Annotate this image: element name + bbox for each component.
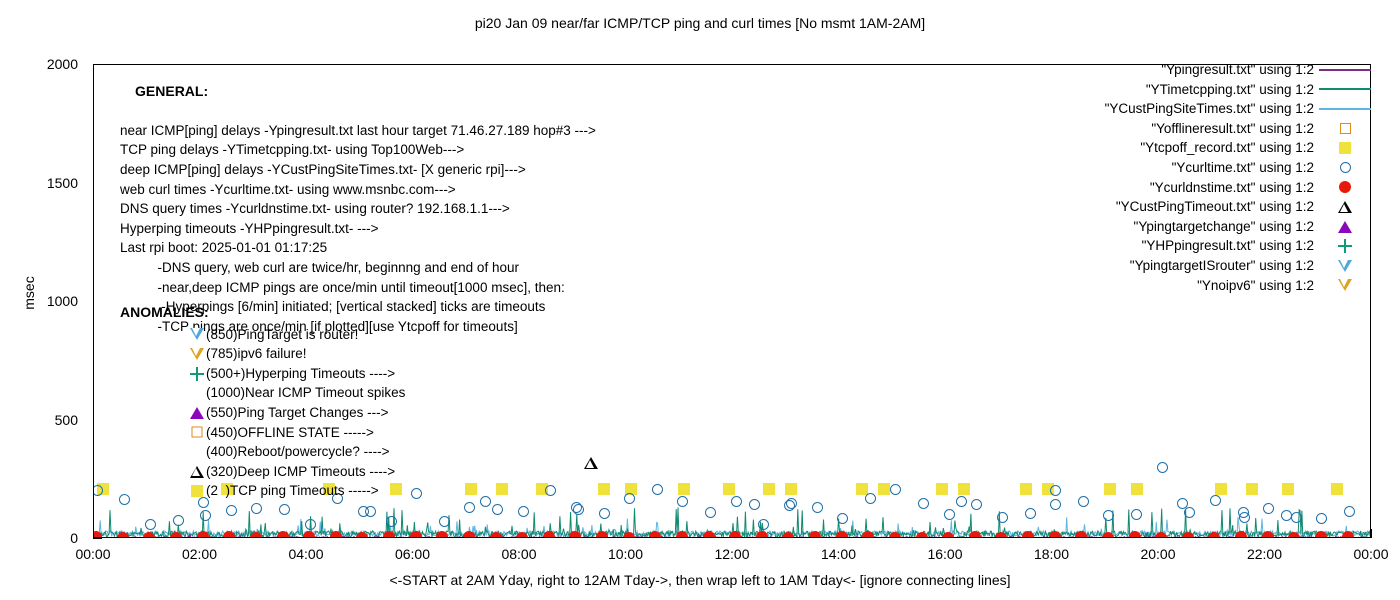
marker-curltime-circle xyxy=(749,499,760,510)
triangle-up-purple-icon xyxy=(188,403,206,423)
triangle-up-open-icon xyxy=(188,462,206,482)
marker-dnstime-dot xyxy=(490,532,502,538)
marker-dnstime-dot xyxy=(623,532,635,538)
marker-curltime-circle xyxy=(1291,512,1302,523)
marker-curltime-circle xyxy=(1078,496,1089,507)
anomaly-row: (400)Reboot/powercycle? ----> xyxy=(120,442,405,462)
y-tick-label: 1500 xyxy=(18,176,78,190)
legend-symbol xyxy=(1319,69,1371,71)
legend-symbol xyxy=(1338,201,1352,213)
marker-dnstime-dot xyxy=(729,531,741,538)
marker-dnstime-dot xyxy=(596,531,608,538)
marker-dnstime-dot xyxy=(1075,531,1087,538)
marker-curltime-circle xyxy=(173,515,184,526)
marker-curltime-circle xyxy=(305,519,316,530)
legend-label: "Ycurldnstime.txt" using 1:2 xyxy=(1150,178,1314,198)
anomaly-label: (450)OFFLINE STATE -----> xyxy=(206,423,374,443)
legend-symbol xyxy=(1338,239,1352,253)
triangle-down-orange-icon xyxy=(1314,276,1376,296)
anomaly-row: (850)PingTarget is router! xyxy=(120,325,405,345)
anomaly-row: (2 )TCP ping Timeouts -----> xyxy=(120,481,405,501)
triangle-up-filled-icon xyxy=(1314,217,1376,237)
anomaly-label: (850)PingTarget is router! xyxy=(206,325,358,345)
anomaly-row: (1000)Near ICMP Timeout spikes xyxy=(120,383,405,403)
legend-symbol xyxy=(1339,181,1351,193)
anomaly-label: (550)Ping Target Changes ---> xyxy=(206,403,388,423)
legend-row: "YTimetcpping.txt" using 1:2 xyxy=(1001,80,1376,100)
marker-curltime-circle xyxy=(1281,510,1292,521)
x-tick-label: 06:00 xyxy=(378,547,448,561)
x-tick-label: 10:00 xyxy=(591,547,661,561)
y-axis-label: msec xyxy=(21,248,37,338)
marker-curltime-circle xyxy=(492,504,503,515)
legend-symbol xyxy=(1339,142,1351,154)
general-note-line: TCP ping delays -YTimetcpping.txt- using… xyxy=(120,140,596,160)
anomaly-label: (2 )TCP ping Timeouts -----> xyxy=(206,481,379,501)
marker-curltime-circle xyxy=(1210,495,1221,506)
marker-tcpoff-square xyxy=(496,483,508,495)
general-note-line: near ICMP[ping] delays -Ypingresult.txt … xyxy=(120,121,596,141)
anomaly-no-icon xyxy=(188,442,206,462)
legend-label: "Ypingtargetchange" using 1:2 xyxy=(1134,217,1314,237)
marker-tcpoff-square xyxy=(936,483,948,495)
marker-dnstime-dot xyxy=(117,532,129,538)
x-tick-label: 02:00 xyxy=(165,547,235,561)
marker-curltime-circle xyxy=(865,493,876,504)
x-tick-label: 20:00 xyxy=(1123,547,1193,561)
marker-tcpoff-square xyxy=(1331,483,1343,495)
marker-curltime-circle xyxy=(1239,512,1250,523)
marker-dnstime-dot xyxy=(463,531,475,538)
marker-dnstime-dot xyxy=(1129,531,1141,538)
marker-tcpoff-square xyxy=(1131,483,1143,495)
legend-label: "Ynoipv6" using 1:2 xyxy=(1197,276,1314,296)
x-tick-mark xyxy=(1371,529,1372,538)
x-tick-label: 16:00 xyxy=(910,547,980,561)
legend-line-swatch xyxy=(1314,99,1376,119)
marker-curltime-circle xyxy=(226,505,237,516)
general-note-line: web curl times -Ycurltime.txt- using www… xyxy=(120,180,596,200)
marker-dnstime-dot xyxy=(1262,531,1274,538)
marker-curltime-circle xyxy=(731,496,742,507)
legend-symbol xyxy=(1319,108,1371,110)
marker-dnstime-dot xyxy=(1049,531,1061,538)
marker-dnstime-dot xyxy=(836,531,848,538)
marker-tcpoff-square xyxy=(958,483,970,495)
marker-tcpoff-square xyxy=(465,483,477,495)
marker-tcpoff-square xyxy=(1215,483,1227,495)
legend-line-swatch xyxy=(1314,80,1376,100)
anomaly-label: (320)Deep ICMP Timeouts ----> xyxy=(206,462,395,482)
square-open-icon xyxy=(1314,119,1376,139)
marker-dnstime-dot xyxy=(543,531,555,538)
legend-label: "Ytcpoff_record.txt" using 1:2 xyxy=(1140,138,1314,158)
circle-filled-icon xyxy=(1314,178,1376,198)
general-header: GENERAL: xyxy=(135,83,208,99)
marker-tcpoff-square xyxy=(1104,483,1116,495)
marker-dnstime-dot xyxy=(1182,532,1194,538)
chart-title: pi20 Jan 09 near/far ICMP/TCP ping and c… xyxy=(0,15,1400,31)
marker-curltime-circle xyxy=(705,507,716,518)
general-note-line: Hyperping timeouts -YHPpingresult.txt- -… xyxy=(120,219,596,239)
marker-tcpoff-square xyxy=(763,483,775,495)
legend: "Ypingresult.txt" using 1:2"YTimetcpping… xyxy=(1001,60,1376,295)
legend-symbol xyxy=(1338,279,1352,291)
legend-row: "YHPpingresult.txt" using 1:2 xyxy=(1001,236,1376,256)
anomaly-label: (1000)Near ICMP Timeout spikes xyxy=(206,383,405,403)
triangle-down-cyan-icon xyxy=(1314,256,1376,276)
marker-dnstime-dot xyxy=(1315,531,1327,538)
marker-tcpoff-square xyxy=(598,483,610,495)
triangle-up-open-icon xyxy=(1314,197,1376,217)
general-note-line: -near,deep ICMP pings are once/min until… xyxy=(120,278,596,298)
legend-label: "YCustPingSiteTimes.txt" using 1:2 xyxy=(1105,99,1314,119)
anomaly-row: (500+)Hyperping Timeouts ----> xyxy=(120,364,405,384)
marker-dnstime-dot xyxy=(1235,531,1247,538)
marker-dnstime-dot xyxy=(569,531,581,538)
x-tick-label: 14:00 xyxy=(804,547,874,561)
legend-row: "YCustPingTimeout.txt" using 1:2 xyxy=(1001,197,1376,217)
marker-curltime-circle xyxy=(386,516,397,527)
legend-label: "YpingtargetISrouter" using 1:2 xyxy=(1130,256,1314,276)
marker-dnstime-dot xyxy=(969,531,981,538)
marker-curltime-circle xyxy=(145,519,156,530)
anomaly-row: (785)ipv6 failure! xyxy=(120,344,405,364)
marker-dnstime-dot xyxy=(197,531,209,538)
marker-tcpoff-square xyxy=(878,483,890,495)
x-axis-caption: <-START at 2AM Yday, right to 12AM Tday-… xyxy=(0,572,1400,588)
legend-label: "YHPpingresult.txt" using 1:2 xyxy=(1142,236,1314,256)
x-tick-label: 08:00 xyxy=(484,547,554,561)
legend-row: "YpingtargetISrouter" using 1:2 xyxy=(1001,256,1376,276)
anomalies-notes: ANOMALIES: (850)PingTarget is router!(78… xyxy=(120,303,405,501)
y-tick-mark xyxy=(93,538,102,539)
anomaly-label: (785)ipv6 failure! xyxy=(206,344,307,364)
legend-label: "Ycurltime.txt" using 1:2 xyxy=(1172,158,1314,178)
marker-curltime-circle xyxy=(652,484,663,495)
marker-curltime-circle xyxy=(1025,508,1036,519)
anomaly-row: (550)Ping Target Changes ---> xyxy=(120,403,405,423)
marker-dnstime-dot xyxy=(676,531,688,538)
marker-curltime-circle xyxy=(1050,499,1061,510)
legend-row: "Ypingresult.txt" using 1:2 xyxy=(1001,60,1376,80)
x-tick-label: 04:00 xyxy=(271,547,341,561)
marker-deep-icmp-timeout xyxy=(584,457,598,469)
general-note-line: deep ICMP[ping] delays -YCustPingSiteTim… xyxy=(120,160,596,180)
x-tick-label: 12:00 xyxy=(697,547,767,561)
circle-open-icon xyxy=(1314,158,1376,178)
legend-row: "Ynoipv6" using 1:2 xyxy=(1001,276,1376,296)
anomaly-label: (400)Reboot/powercycle? ----> xyxy=(206,442,389,462)
marker-curltime-circle xyxy=(812,502,823,513)
marker-dnstime-dot xyxy=(410,531,422,538)
marker-tcpoff-square xyxy=(1246,483,1258,495)
marker-curltime-circle xyxy=(599,508,610,519)
legend-symbol xyxy=(1340,162,1351,173)
general-note-line: -DNS query, web curl are twice/hr, begin… xyxy=(120,258,596,278)
marker-dnstime-dot xyxy=(703,531,715,538)
x-tick-label: 22:00 xyxy=(1230,547,1300,561)
x-tick-label: 00:00 xyxy=(58,547,128,561)
anomaly-row: (320)Deep ICMP Timeouts ----> xyxy=(120,462,405,482)
legend-row: "YCustPingSiteTimes.txt" using 1:2 xyxy=(1001,99,1376,119)
legend-symbol xyxy=(1338,221,1352,233)
legend-row: "Ycurldnstime.txt" using 1:2 xyxy=(1001,178,1376,198)
anomaly-no-icon xyxy=(188,383,206,403)
x-tick-label: 00:00 xyxy=(1336,547,1400,561)
square-filled-icon xyxy=(1314,138,1376,158)
chart-root: pi20 Jan 09 near/far ICMP/TCP ping and c… xyxy=(0,0,1400,600)
marker-curltime-circle xyxy=(480,496,491,507)
y-tick-label: 0 xyxy=(18,531,78,545)
square-filled-yellow-icon xyxy=(188,481,206,501)
legend-symbol xyxy=(1340,123,1351,134)
y-tick-label: 2000 xyxy=(18,57,78,71)
y-tick-label: 500 xyxy=(18,413,78,427)
marker-dnstime-dot xyxy=(277,531,289,538)
marker-dnstime-dot xyxy=(1342,531,1354,538)
marker-dnstime-dot xyxy=(303,531,315,538)
square-open-orange-icon xyxy=(188,423,206,443)
triangle-down-cyan-icon xyxy=(188,325,206,345)
marker-dnstime-dot xyxy=(889,532,901,538)
legend-label: "YCustPingTimeout.txt" using 1:2 xyxy=(1116,197,1314,217)
anomalies-header: ANOMALIES: xyxy=(120,303,405,323)
legend-row: "Ycurltime.txt" using 1:2 xyxy=(1001,158,1376,178)
legend-symbol xyxy=(1319,88,1371,90)
marker-tcpoff-square xyxy=(1020,483,1032,495)
marker-curltime-circle xyxy=(439,516,450,527)
marker-curltime-circle xyxy=(918,498,929,509)
legend-label: "YTimetcpping.txt" using 1:2 xyxy=(1146,80,1314,100)
legend-row: "Ypingtargetchange" using 1:2 xyxy=(1001,217,1376,237)
marker-dnstime-dot xyxy=(383,531,395,538)
marker-tcpoff-square xyxy=(1282,483,1294,495)
marker-tcpoff-square xyxy=(678,483,690,495)
marker-tcpoff-square xyxy=(723,483,735,495)
plus-teal-icon xyxy=(188,364,206,384)
marker-curltime-circle xyxy=(93,485,103,496)
marker-dnstime-dot xyxy=(756,531,768,538)
legend-line-swatch xyxy=(1314,60,1376,80)
anomaly-label: (500+)Hyperping Timeouts ----> xyxy=(206,364,395,384)
legend-label: "Yofflineresult.txt" using 1:2 xyxy=(1151,119,1314,139)
marker-curltime-circle xyxy=(518,506,529,517)
marker-dnstime-dot xyxy=(1022,531,1034,538)
marker-curltime-circle xyxy=(786,498,797,509)
legend-label: "Ypingresult.txt" using 1:2 xyxy=(1161,60,1314,80)
legend-row: "Ytcpoff_record.txt" using 1:2 xyxy=(1001,138,1376,158)
legend-symbol xyxy=(1338,260,1352,272)
y-tick-label: 1000 xyxy=(18,294,78,308)
marker-dnstime-dot xyxy=(916,532,928,538)
marker-dnstime-dot xyxy=(330,531,342,538)
general-note-line: Last rpi boot: 2025-01-01 01:17:25 xyxy=(120,238,596,258)
x-tick-label: 18:00 xyxy=(1017,547,1087,561)
marker-curltime-circle xyxy=(997,512,1008,523)
legend-row: "Yofflineresult.txt" using 1:2 xyxy=(1001,119,1376,139)
anomaly-row: (450)OFFLINE STATE -----> xyxy=(120,423,405,443)
marker-tcpoff-square xyxy=(785,483,797,495)
triangle-down-orange-icon xyxy=(188,344,206,364)
general-note-line: DNS query times -Ycurldnstime.txt- using… xyxy=(120,199,596,219)
plus-icon xyxy=(1314,236,1376,256)
general-notes: GENERAL: near ICMP[ping] delays -Ypingre… xyxy=(120,62,596,336)
